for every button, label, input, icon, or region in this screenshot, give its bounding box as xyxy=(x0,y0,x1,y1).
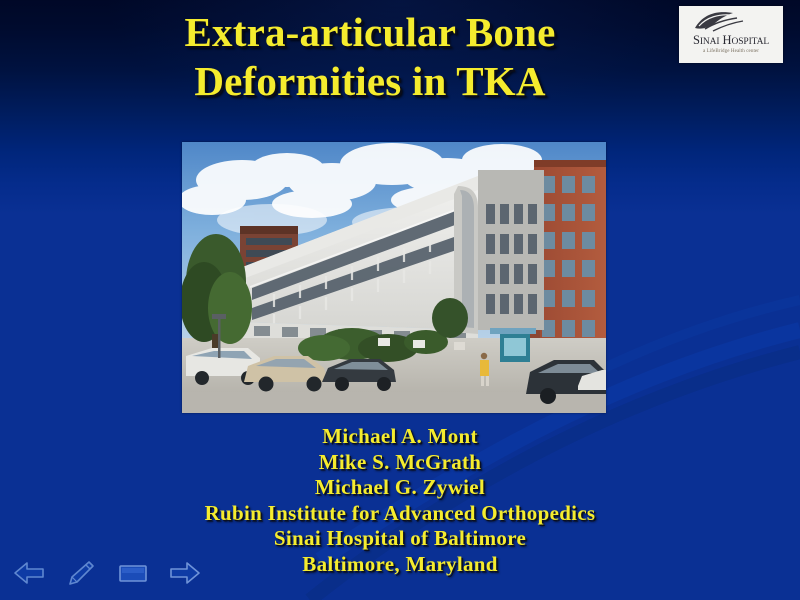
title-line-1: Extra-articular Bone xyxy=(60,8,680,57)
logo-bird-swoosh-icon xyxy=(693,10,745,32)
sinai-hospital-logo: SINAI HOSPITAL a LifeBridge Health cente… xyxy=(679,6,783,63)
author-line-1: Michael A. Mont xyxy=(40,424,760,450)
affiliation-hospital: Sinai Hospital of Baltimore xyxy=(40,526,760,552)
title-line-2: Deformities in TKA xyxy=(60,57,680,106)
pen-annotate-button[interactable] xyxy=(62,556,100,590)
slide-navigation-bar xyxy=(10,554,204,592)
slide-menu-button[interactable] xyxy=(114,556,152,590)
hospital-building-photo xyxy=(182,142,606,413)
logo-name-s: S xyxy=(693,33,700,47)
pen-icon xyxy=(66,559,96,587)
next-slide-button[interactable] xyxy=(166,556,204,590)
author-line-2: Mike S. McGrath xyxy=(40,450,760,476)
slide-title: Extra-articular Bone Deformities in TKA xyxy=(60,8,680,106)
author-line-3: Michael G. Zywiel xyxy=(40,475,760,501)
logo-name-ospital: OSPITAL xyxy=(731,37,769,47)
left-arrow-icon xyxy=(12,560,46,586)
logo-wordmark: SINAI HOSPITAL xyxy=(679,33,783,48)
right-arrow-icon xyxy=(168,560,202,586)
logo-tagline: a LifeBridge Health center xyxy=(679,49,783,54)
presentation-slide: Extra-articular Bone Deformities in TKA … xyxy=(0,0,800,600)
rectangle-icon xyxy=(117,561,149,585)
logo-name-inai: INAI xyxy=(700,37,720,47)
affiliation-institute: Rubin Institute for Advanced Orthopedics xyxy=(40,501,760,527)
previous-slide-button[interactable] xyxy=(10,556,48,590)
